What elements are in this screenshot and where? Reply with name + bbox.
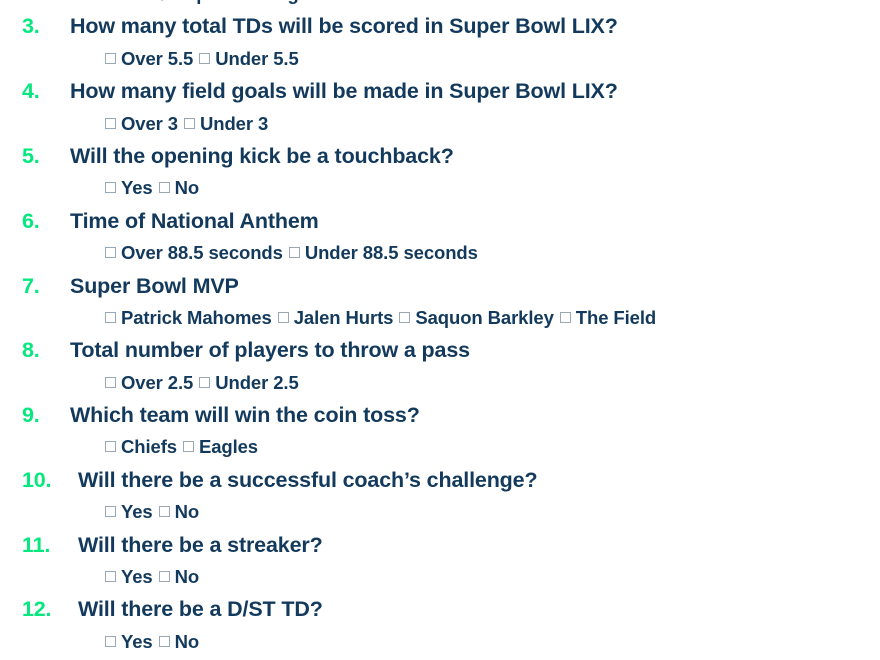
option-choice[interactable]: Yes <box>105 496 153 530</box>
checkbox-empty-square-icon[interactable] <box>105 53 116 64</box>
checkbox-empty-square-icon[interactable] <box>105 571 116 582</box>
checkbox-empty-square-icon[interactable] <box>199 377 210 388</box>
checkbox-empty-square-icon[interactable] <box>105 312 116 323</box>
option-label: Red <box>410 0 445 4</box>
option-choice[interactable]: Yes <box>105 172 153 206</box>
question-row: 3.How many total TDs will be scored in S… <box>0 10 880 42</box>
option-row-1: Over 3Under 3 <box>0 108 880 140</box>
checkbox-empty-square-icon[interactable] <box>184 118 195 129</box>
option-label: Under 88.5 seconds <box>305 242 478 263</box>
option-label: Over 88.5 seconds <box>121 242 283 263</box>
option-choice[interactable]: Eagles <box>183 431 258 465</box>
question-text: Will there be a successful coach’s chall… <box>78 468 537 492</box>
option-label: Jalen Hurts <box>294 307 394 328</box>
option-label: Saquon Barkley <box>415 307 553 328</box>
option-label: Blue/Purple <box>121 0 223 4</box>
checkbox-empty-square-icon[interactable] <box>105 441 116 452</box>
question-number: 12. <box>22 593 78 625</box>
option-label: Yes <box>121 566 153 587</box>
question-row: 6.Time of National Anthem <box>0 205 880 237</box>
option-choice[interactable]: Under 2.5 <box>199 367 298 401</box>
option-row-6: ChiefsEagles <box>0 431 880 463</box>
option-row-2: YesNo <box>0 172 880 204</box>
option-row-4: Patrick MahomesJalen HurtsSaquon Barkley… <box>0 302 880 334</box>
option-label: Eagles <box>199 436 258 457</box>
question-row: 9.Which team will win the coin toss? <box>0 399 880 431</box>
question-row: 12.Will there be a D/ST TD? <box>0 593 880 625</box>
option-row-9: YesNo <box>0 626 880 658</box>
question-number: 7. <box>22 270 70 302</box>
option-choice[interactable]: No <box>159 172 199 206</box>
prop-bet-sheet: Blue/PurpleOrangeYellowRedOther3.How man… <box>0 0 880 660</box>
checkbox-empty-square-icon[interactable] <box>105 247 116 258</box>
option-row-5: Over 2.5Under 2.5 <box>0 367 880 399</box>
option-choice[interactable]: Yes <box>105 561 153 595</box>
question-text: Time of National Anthem <box>70 209 319 233</box>
option-choice[interactable]: Jalen Hurts <box>278 302 394 336</box>
option-label: Under 5.5 <box>215 48 298 69</box>
question-number: 10. <box>22 464 78 496</box>
option-label: Under 3 <box>200 113 268 134</box>
option-label: Orange <box>245 0 309 4</box>
option-choice[interactable]: Over 2.5 <box>105 367 193 401</box>
checkbox-empty-square-icon[interactable] <box>399 312 410 323</box>
question-row: 7.Super Bowl MVP <box>0 270 880 302</box>
option-choice[interactable]: Over 88.5 seconds <box>105 237 283 271</box>
option-label: Over 5.5 <box>121 48 193 69</box>
option-row-7: YesNo <box>0 496 880 528</box>
question-text: Will there be a D/ST TD? <box>78 597 323 621</box>
option-choice[interactable]: Under 88.5 seconds <box>289 237 478 271</box>
question-row: 4.How many field goals will be made in S… <box>0 75 880 107</box>
checkbox-empty-square-icon[interactable] <box>105 182 116 193</box>
question-number: 6. <box>22 205 70 237</box>
checkbox-empty-square-icon[interactable] <box>159 636 170 647</box>
checkbox-empty-square-icon[interactable] <box>105 118 116 129</box>
option-choice[interactable]: Patrick Mahomes <box>105 302 272 336</box>
option-label: Yellow <box>331 0 388 4</box>
option-label: No <box>175 177 199 198</box>
question-number: 9. <box>22 399 70 431</box>
checkbox-empty-square-icon[interactable] <box>289 247 300 258</box>
question-list: Blue/PurpleOrangeYellowRedOther3.How man… <box>0 0 880 658</box>
option-label: Yes <box>121 177 153 198</box>
option-label: The Field <box>576 307 656 328</box>
question-number: 8. <box>22 334 70 366</box>
question-number: 11. <box>22 529 78 561</box>
option-label: No <box>175 566 199 587</box>
question-text: Total number of players to throw a pass <box>70 338 470 362</box>
question-number: 4. <box>22 75 70 107</box>
option-label: No <box>175 631 199 652</box>
option-choice[interactable]: No <box>159 626 199 660</box>
question-row: 5.Will the opening kick be a touchback? <box>0 140 880 172</box>
option-choice[interactable]: Yes <box>105 626 153 660</box>
option-row-0: Over 5.5Under 5.5 <box>0 43 880 75</box>
question-text: Which team will win the coin toss? <box>70 403 420 427</box>
question-row: 10.Will there be a successful coach’s ch… <box>0 464 880 496</box>
question-row: 11.Will there be a streaker? <box>0 529 880 561</box>
option-choice[interactable]: Over 3 <box>105 108 178 142</box>
option-choice[interactable]: No <box>159 496 199 530</box>
option-row-8: YesNo <box>0 561 880 593</box>
option-label: Over 2.5 <box>121 372 193 393</box>
checkbox-empty-square-icon[interactable] <box>159 571 170 582</box>
checkbox-empty-square-icon[interactable] <box>159 506 170 517</box>
checkbox-empty-square-icon[interactable] <box>278 312 289 323</box>
question-number: 5. <box>22 140 70 172</box>
option-choice[interactable]: Saquon Barkley <box>399 302 553 336</box>
question-text: Will there be a streaker? <box>78 533 323 557</box>
option-label: Yes <box>121 501 153 522</box>
checkbox-empty-square-icon[interactable] <box>105 506 116 517</box>
option-choice[interactable]: Under 3 <box>184 108 268 142</box>
option-label: Patrick Mahomes <box>121 307 272 328</box>
question-text: Super Bowl MVP <box>70 274 239 298</box>
option-label: Over 3 <box>121 113 178 134</box>
question-text: How many total TDs will be scored in Sup… <box>70 14 618 38</box>
checkbox-empty-square-icon[interactable] <box>199 53 210 64</box>
option-choice[interactable]: The Field <box>560 302 656 336</box>
checkbox-empty-square-icon[interactable] <box>159 182 170 193</box>
option-label: Chiefs <box>121 436 177 457</box>
option-label: Under 2.5 <box>215 372 298 393</box>
option-label: Other <box>467 0 516 4</box>
checkbox-empty-square-icon[interactable] <box>105 636 116 647</box>
option-choice[interactable]: Under 5.5 <box>199 43 298 77</box>
question-text: How many field goals will be made in Sup… <box>70 79 618 103</box>
option-choice[interactable]: No <box>159 561 199 595</box>
option-label: No <box>175 501 199 522</box>
option-row-3: Over 88.5 secondsUnder 88.5 seconds <box>0 237 880 269</box>
option-choice[interactable]: Chiefs <box>105 431 177 465</box>
question-number: 3. <box>22 10 70 42</box>
option-choice[interactable]: Over 5.5 <box>105 43 193 77</box>
option-label: Yes <box>121 631 153 652</box>
checkbox-empty-square-icon[interactable] <box>105 377 116 388</box>
option-row-clipped-top: Blue/PurpleOrangeYellowRedOther <box>0 0 880 10</box>
checkbox-empty-square-icon[interactable] <box>560 312 571 323</box>
question-row: 8.Total number of players to throw a pas… <box>0 334 880 366</box>
question-text: Will the opening kick be a touchback? <box>70 144 454 168</box>
checkbox-empty-square-icon[interactable] <box>183 441 194 452</box>
